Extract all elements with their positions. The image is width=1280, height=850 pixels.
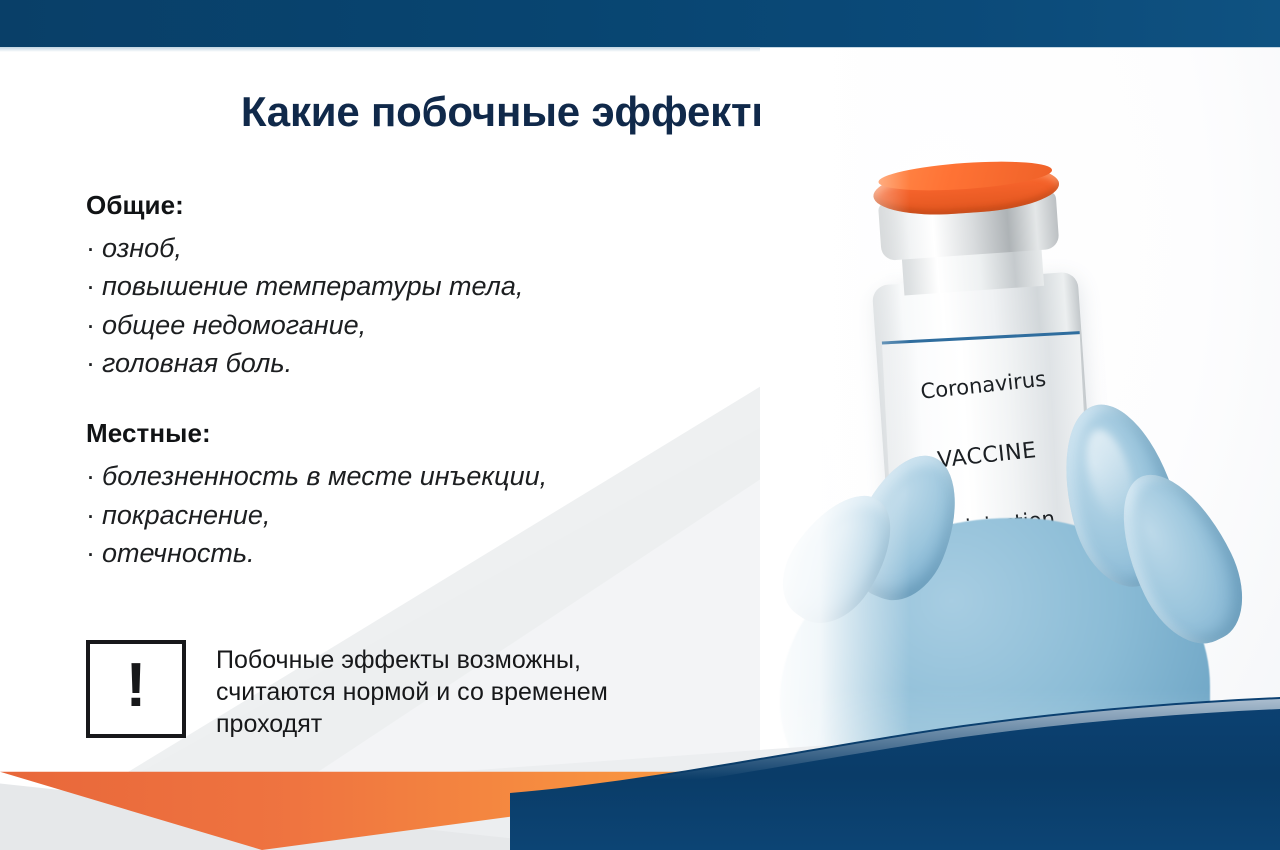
list-item: ·общее недомогание, <box>86 306 806 344</box>
side-effects-content: Общие: ·озноб, ·повышение температуры те… <box>86 190 806 608</box>
list-item-label: общее недомогание, <box>102 310 366 340</box>
group-heading-general: Общие: <box>86 190 806 221</box>
list-item: ·головная боль. <box>86 344 806 382</box>
list-item-label: отечность. <box>102 538 255 568</box>
note-text: Побочные эффекты возможны, считаются нор… <box>216 640 608 740</box>
infographic-poster: Какие побочные эффекты возможны? Общие: … <box>0 0 1280 850</box>
bullet-list-general: ·озноб, ·повышение температуры тела, ·об… <box>86 229 806 382</box>
list-item-label: болезненность в месте инъекции, <box>102 461 547 491</box>
list-item-label: повышение температуры тела, <box>102 271 523 301</box>
list-item: ·отечность. <box>86 534 806 572</box>
bullet-dot-icon: · <box>86 233 95 263</box>
gloved-hand-holding-vaccine-vial: Coronavirus VACCINE For injection <box>760 48 1280 808</box>
bullet-dot-icon: · <box>86 461 95 491</box>
vial-label-line-1: Coronavirus <box>884 363 1083 408</box>
list-item-label: покраснение, <box>102 500 270 530</box>
exclamation-box: ! <box>86 640 186 738</box>
bullet-dot-icon: · <box>86 538 95 568</box>
group-general: Общие: ·озноб, ·повышение температуры те… <box>86 190 806 382</box>
bullet-dot-icon: · <box>86 348 95 378</box>
bullet-dot-icon: · <box>86 310 95 340</box>
exclamation-icon: ! <box>126 655 147 717</box>
list-item-label: озноб, <box>102 233 182 263</box>
bullet-dot-icon: · <box>86 271 95 301</box>
group-heading-local: Местные: <box>86 418 806 449</box>
bullet-list-local: ·болезненность в месте инъекции, ·покрас… <box>86 457 806 572</box>
list-item: ·повышение температуры тела, <box>86 267 806 305</box>
note-callout: ! Побочные эффекты возможны, считаются н… <box>86 640 608 740</box>
bullet-dot-icon: · <box>86 500 95 530</box>
group-local: Местные: ·болезненность в месте инъекции… <box>86 418 806 572</box>
list-item-label: головная боль. <box>102 348 292 378</box>
list-item: ·болезненность в месте инъекции, <box>86 457 806 495</box>
list-item: ·озноб, <box>86 229 806 267</box>
top-navy-bar <box>0 0 1280 47</box>
list-item: ·покраснение, <box>86 496 806 534</box>
